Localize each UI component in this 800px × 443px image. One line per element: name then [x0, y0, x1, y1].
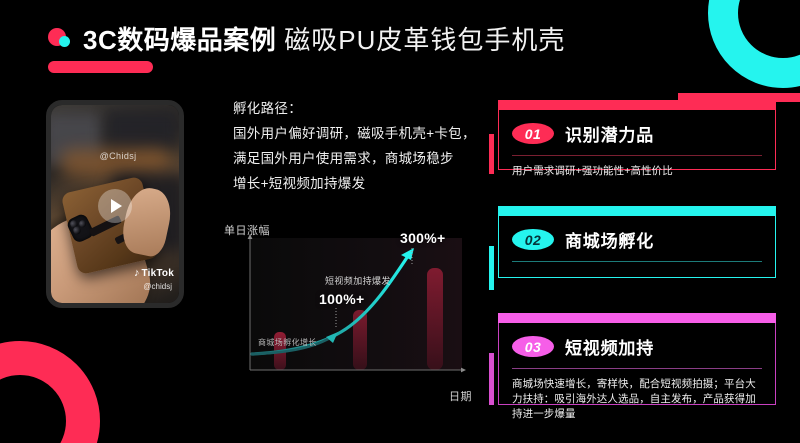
incubation-line-3: 增长+短视频加持爆发 [233, 171, 483, 196]
watermark-bottom: @chidsj [143, 282, 172, 291]
phone-mockup[interactable]: @Chidsj ♪ TikTok @chidsj [46, 100, 184, 308]
title-bold-text: 3C数码爆品案例 [83, 20, 276, 57]
chart-annotation-mall-growth: 商城场孵化增长 [258, 337, 317, 348]
card-top-bar [498, 100, 776, 110]
platform-label: TikTok [141, 268, 174, 279]
card-accent-bar [489, 246, 494, 290]
step-card-01[interactable]: 01 识别潜力品 用户需求调研+强功能性+高性价比 [498, 100, 776, 170]
title-light-text: 磁吸PU皮革钱包手机壳 [284, 20, 565, 57]
chart-annotation-short-video: 短视频加持爆发 [325, 274, 391, 287]
x-axis-arrow [461, 368, 466, 373]
card-accent-bar [489, 134, 494, 174]
chart-label-300: 300%+ [400, 230, 445, 246]
incubation-line-0: 孵化路径： [233, 96, 483, 121]
card-divider [512, 368, 762, 369]
card-top-bar [498, 313, 776, 323]
step-card-title: 识别潜力品 [565, 121, 654, 146]
watermark-top: @Chidsj [100, 151, 137, 161]
step-number-badge: 02 [512, 229, 554, 250]
incubation-line-2: 满足国外用户使用需求，商城场稳步 [233, 146, 483, 171]
chart-canvas [222, 222, 474, 404]
card-accent-bar [489, 353, 494, 405]
growth-chart: 单日涨幅 日期 [222, 222, 474, 404]
card-divider [512, 155, 762, 156]
step-card-03[interactable]: 03 短视频加持 商城场快速增长，寄样快，配合短视频拍摄；平台大力扶持：吸引海外… [498, 313, 776, 405]
red-ring-decoration [0, 341, 100, 443]
chart-bar [427, 268, 443, 370]
step-card-title: 短视频加持 [565, 334, 654, 359]
step-number-badge: 03 [512, 336, 554, 357]
step-number-badge: 01 [512, 123, 554, 144]
step-card-02[interactable]: 02 商城场孵化 [498, 206, 776, 278]
tiktok-dots-icon [48, 28, 74, 50]
page-title: 3C数码爆品案例 磁吸PU皮革钱包手机壳 [48, 20, 565, 57]
title-underline [48, 61, 153, 73]
incubation-line-1: 国外用户偏好调研，磁吸手机壳+卡包， [233, 121, 483, 146]
tiktok-note-icon: ♪ [134, 268, 140, 279]
cyan-ring-decoration [708, 0, 800, 88]
play-icon[interactable] [98, 189, 132, 223]
step-card-text: 商城场快速增长，寄样快，配合短视频拍摄；平台大力扶持：吸引海外达人选品，自主发布… [512, 377, 762, 422]
video-preview[interactable]: @Chidsj ♪ TikTok @chidsj [51, 105, 179, 303]
card-top-bar [498, 206, 776, 216]
step-card-title: 商城场孵化 [565, 227, 654, 252]
step-card-text: 用户需求调研+强功能性+高性价比 [512, 164, 762, 179]
tiktok-badge: ♪ TikTok [134, 268, 174, 279]
chart-label-100: 100%+ [319, 291, 364, 307]
card-divider [512, 261, 762, 262]
slide-canvas: 3C数码爆品案例 磁吸PU皮革钱包手机壳 @Chidsj ♪ TikTo [0, 0, 800, 443]
incubation-path-block: 孵化路径： 国外用户偏好调研，磁吸手机壳+卡包， 满足国外用户使用需求，商城场稳… [233, 96, 483, 196]
background-blur-shape [105, 109, 179, 149]
y-axis-arrow [248, 234, 253, 239]
